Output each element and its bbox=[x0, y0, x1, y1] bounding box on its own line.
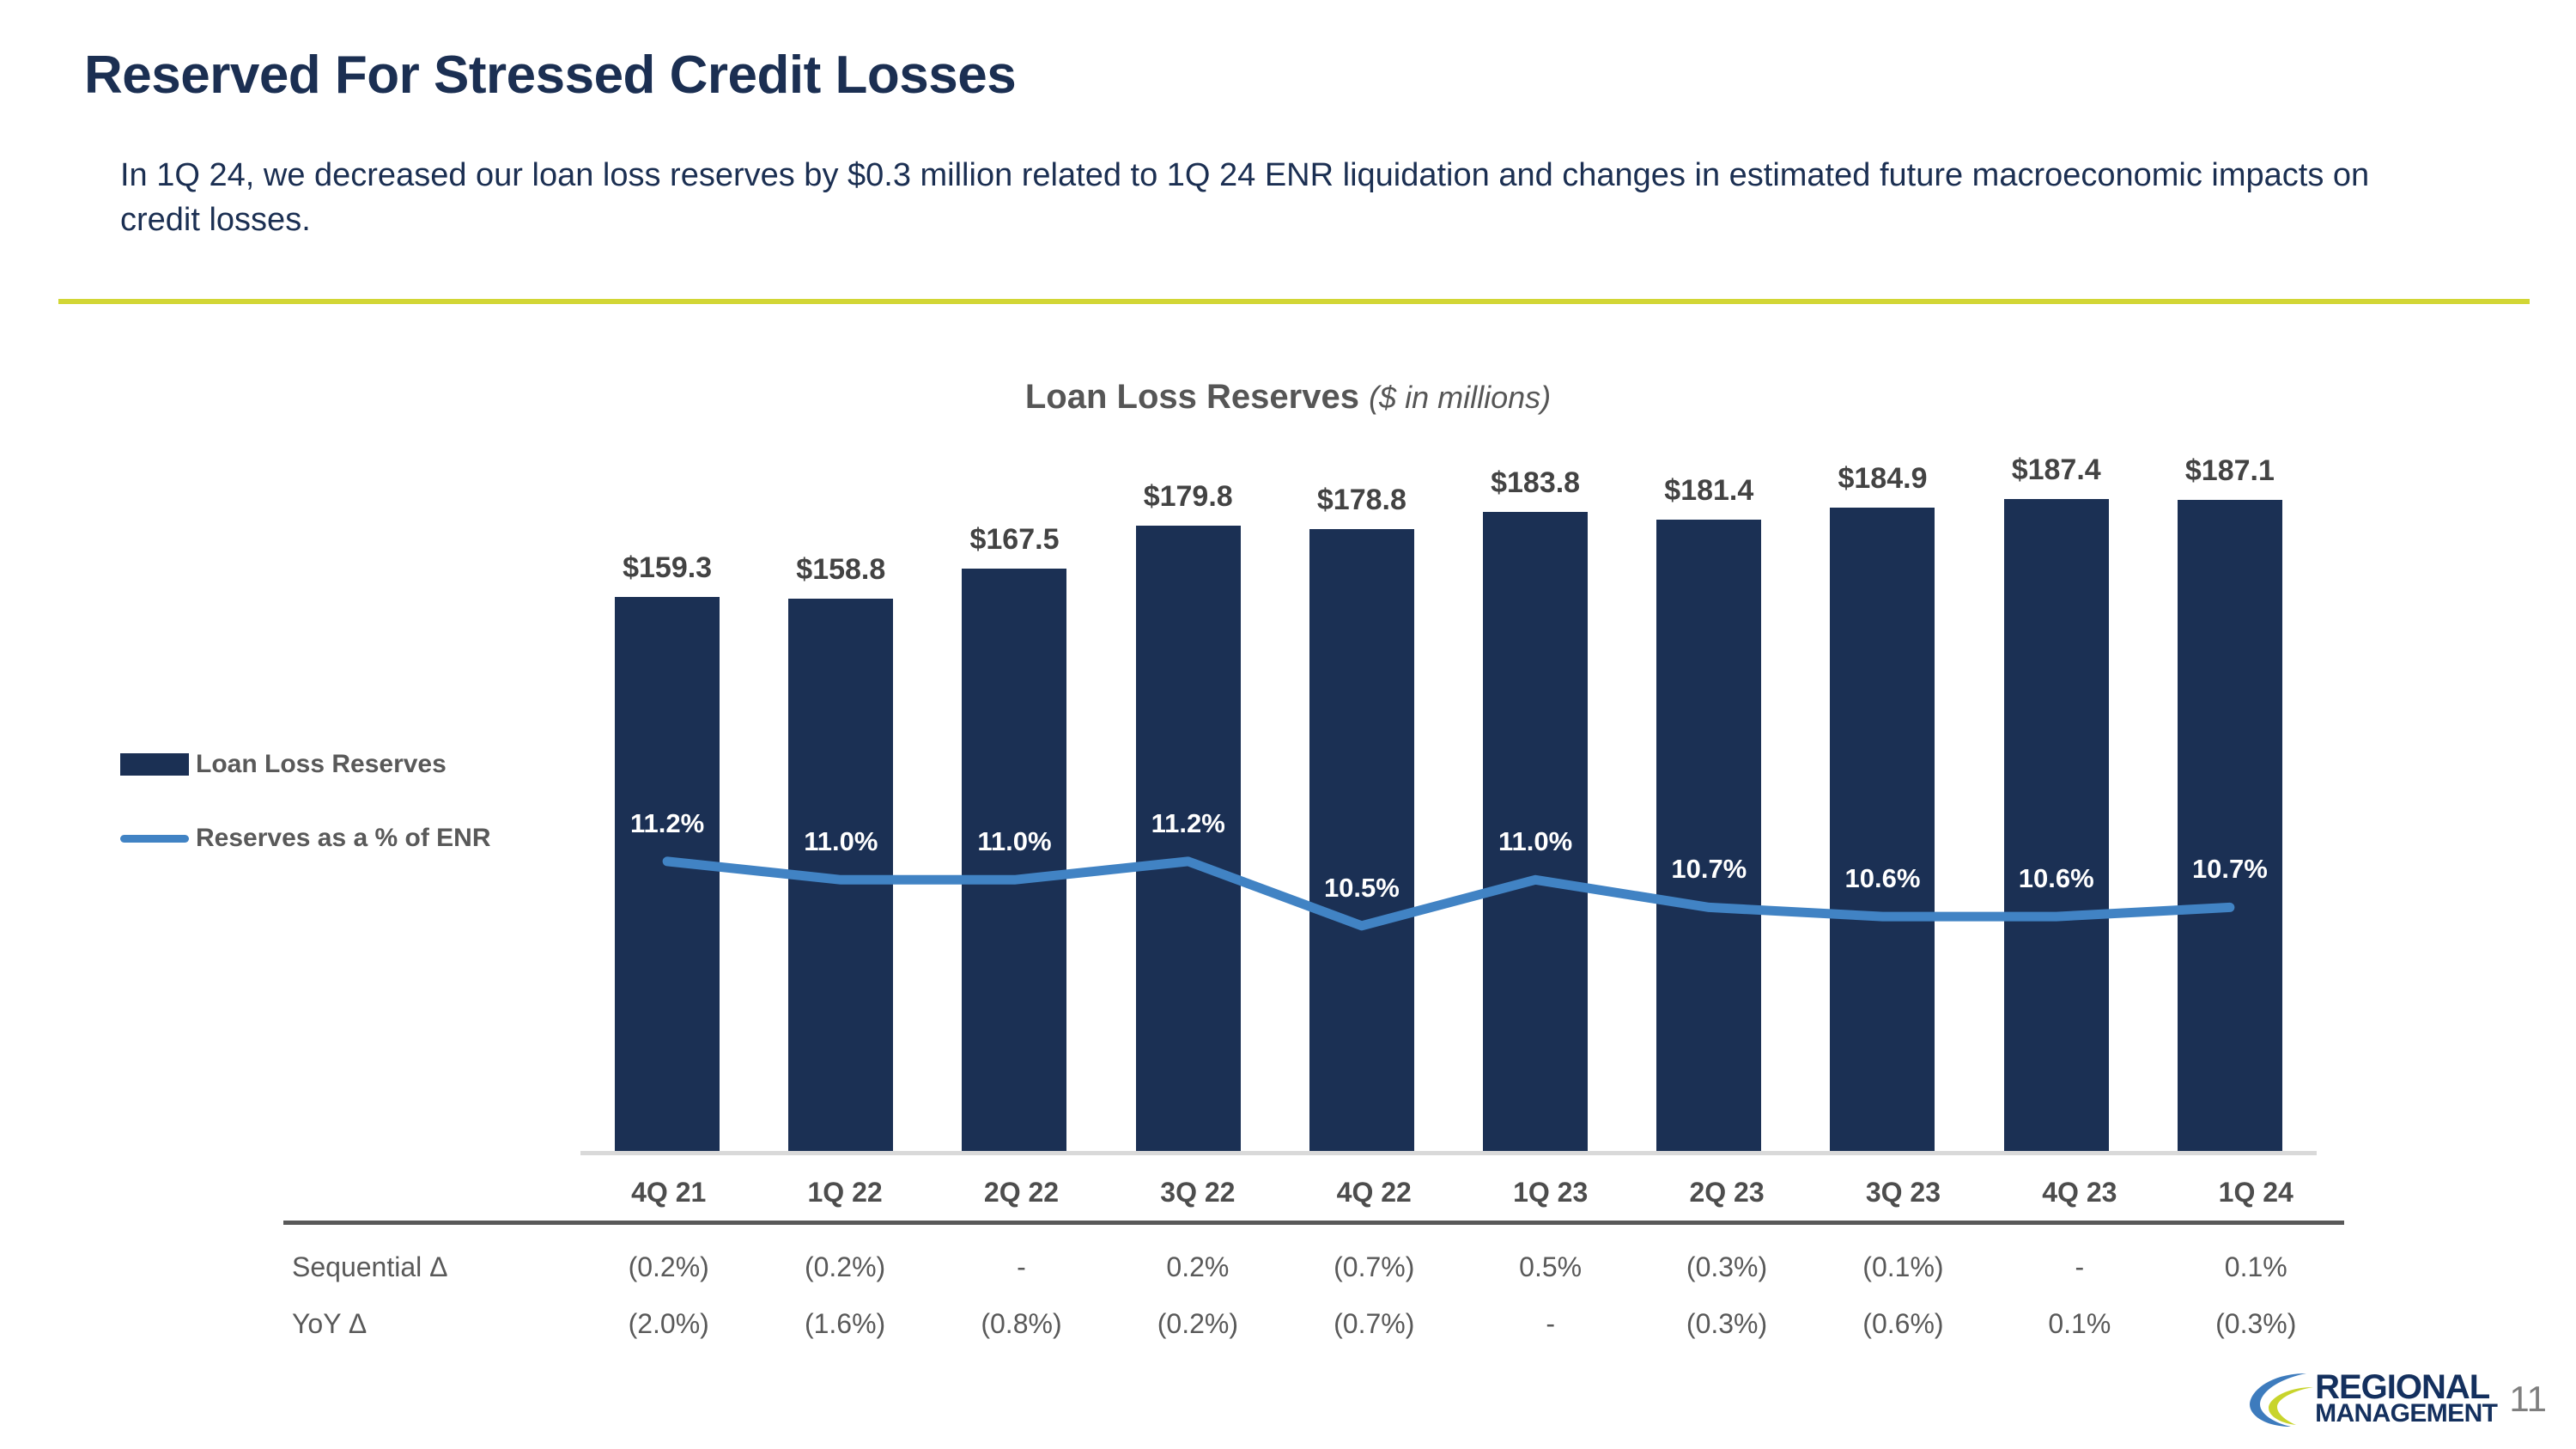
table-cell: (0.3%) bbox=[2168, 1295, 2344, 1352]
line-point-label: 11.2% bbox=[630, 808, 704, 839]
chart-title-units: ($ in millions) bbox=[1369, 380, 1551, 415]
table-cell: (0.3%) bbox=[1638, 1295, 1814, 1352]
line-point-label: 10.6% bbox=[2019, 863, 2094, 894]
delta-table-head: 4Q 211Q 222Q 223Q 224Q 221Q 232Q 233Q 23… bbox=[283, 1164, 2344, 1223]
table-column-header: 3Q 22 bbox=[1109, 1164, 1285, 1223]
table-cell: (0.2%) bbox=[580, 1223, 756, 1296]
line-point-label: 10.6% bbox=[1845, 863, 1921, 894]
regional-management-logo: REGIONAL MANAGEMENT bbox=[2246, 1367, 2497, 1432]
chart-legend: Loan Loss Reserves Reserves as a % of EN… bbox=[120, 739, 491, 886]
line-point-label: 11.0% bbox=[977, 826, 1051, 857]
table-row: Sequential Δ(0.2%)(0.2%)-0.2%(0.7%)0.5%(… bbox=[283, 1223, 2344, 1296]
table-column-header: 2Q 23 bbox=[1638, 1164, 1814, 1223]
table-cell: (0.6%) bbox=[1815, 1295, 1991, 1352]
table-cell: (0.8%) bbox=[933, 1295, 1109, 1352]
legend-label-bars: Loan Loss Reserves bbox=[196, 750, 447, 779]
table-cell: 0.5% bbox=[1462, 1223, 1638, 1296]
table-cell: (1.6%) bbox=[756, 1295, 933, 1352]
legend-item-line: Reserves as a % of ENR bbox=[120, 813, 491, 864]
table-column-header: 2Q 22 bbox=[933, 1164, 1109, 1223]
table-cell: 0.2% bbox=[1109, 1223, 1285, 1296]
table-row: YoY Δ(2.0%)(1.6%)(0.8%)(0.2%)(0.7%)-(0.3… bbox=[283, 1295, 2344, 1352]
table-header-blank bbox=[283, 1164, 580, 1223]
table-header-row: 4Q 211Q 222Q 223Q 224Q 221Q 232Q 233Q 23… bbox=[283, 1164, 2344, 1223]
table-cell: (0.3%) bbox=[1638, 1223, 1814, 1296]
table-row-label: Sequential Δ bbox=[283, 1223, 580, 1296]
reserves-percent-line bbox=[580, 455, 2317, 1151]
logo-line-2: MANAGEMENT bbox=[2315, 1403, 2497, 1425]
table-cell: (0.7%) bbox=[1286, 1223, 1462, 1296]
accent-divider bbox=[58, 299, 2530, 304]
table-cell: - bbox=[933, 1223, 1109, 1296]
chart-plot-area: $159.3$158.8$167.5$179.8$178.8$183.8$181… bbox=[580, 455, 2317, 1151]
slide-footer: REGIONAL MANAGEMENT 11 bbox=[2246, 1367, 2547, 1432]
table-column-header: 1Q 24 bbox=[2168, 1164, 2344, 1223]
line-point-label: 11.0% bbox=[804, 826, 878, 857]
delta-table-body: Sequential Δ(0.2%)(0.2%)-0.2%(0.7%)0.5%(… bbox=[283, 1223, 2344, 1353]
table-column-header: 4Q 22 bbox=[1286, 1164, 1462, 1223]
legend-label-line: Reserves as a % of ENR bbox=[196, 824, 491, 853]
swoosh-icon bbox=[2246, 1367, 2320, 1432]
table-column-header: 1Q 23 bbox=[1462, 1164, 1638, 1223]
table-cell: (0.2%) bbox=[1109, 1295, 1285, 1352]
line-point-label: 10.5% bbox=[1324, 873, 1400, 904]
page-number: 11 bbox=[2509, 1379, 2547, 1420]
line-point-label: 10.7% bbox=[1671, 854, 1747, 885]
table-cell: - bbox=[1991, 1223, 2167, 1296]
slide-root: Reserved For Stressed Credit Losses In 1… bbox=[0, 0, 2576, 1449]
chart-title: Loan Loss Reserves ($ in millions) bbox=[0, 378, 2576, 417]
table-column-header: 4Q 21 bbox=[580, 1164, 756, 1223]
chart-title-main: Loan Loss Reserves bbox=[1025, 378, 1359, 416]
table-cell: 0.1% bbox=[2168, 1223, 2344, 1296]
legend-item-bars: Loan Loss Reserves bbox=[120, 739, 491, 790]
legend-bar-swatch-icon bbox=[120, 753, 189, 776]
table-column-header: 4Q 23 bbox=[1991, 1164, 2167, 1223]
table-cell: (2.0%) bbox=[580, 1295, 756, 1352]
legend-line-swatch-icon bbox=[120, 835, 189, 843]
table-column-header: 3Q 23 bbox=[1815, 1164, 1991, 1223]
line-point-label: 11.2% bbox=[1151, 808, 1225, 839]
logo-line-1: REGIONAL bbox=[2315, 1373, 2497, 1403]
line-point-label: 10.7% bbox=[2192, 854, 2268, 885]
table-cell: - bbox=[1462, 1295, 1638, 1352]
table-cell: (0.1%) bbox=[1815, 1223, 1991, 1296]
table-cell: (0.2%) bbox=[756, 1223, 933, 1296]
delta-table: 4Q 211Q 222Q 223Q 224Q 221Q 232Q 233Q 23… bbox=[283, 1164, 2344, 1352]
table-cell: 0.1% bbox=[1991, 1295, 2167, 1352]
slide-subtitle: In 1Q 24, we decreased our loan loss res… bbox=[120, 153, 2439, 243]
delta-table-element: 4Q 211Q 222Q 223Q 224Q 221Q 232Q 233Q 23… bbox=[283, 1164, 2344, 1352]
logo-wordmark: REGIONAL MANAGEMENT bbox=[2315, 1373, 2497, 1426]
page-title: Reserved For Stressed Credit Losses bbox=[84, 45, 1016, 106]
table-column-header: 1Q 22 bbox=[756, 1164, 933, 1223]
table-cell: (0.7%) bbox=[1286, 1295, 1462, 1352]
line-path-reserves-pct bbox=[667, 861, 2230, 926]
chart-x-axis bbox=[580, 1151, 2317, 1155]
table-row-label: YoY Δ bbox=[283, 1295, 580, 1352]
line-point-label: 11.0% bbox=[1498, 826, 1572, 857]
